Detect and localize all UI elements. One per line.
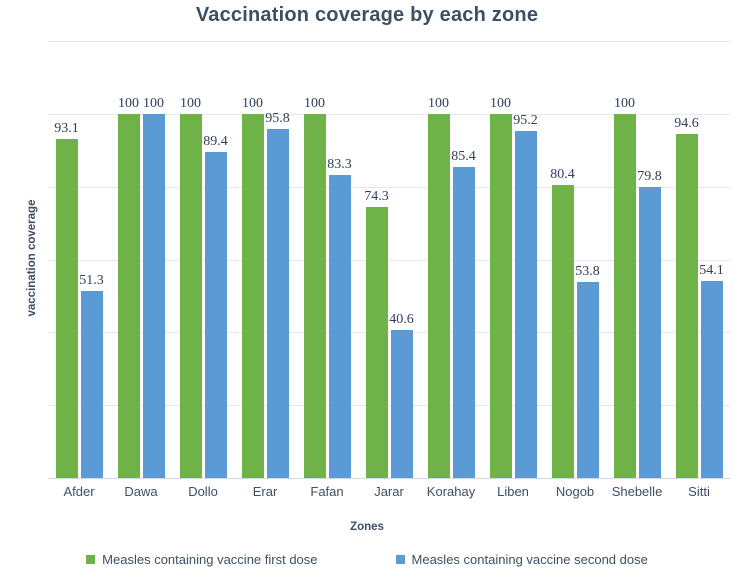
- bar-value-label: 80.4: [550, 167, 575, 183]
- bar-group: 10095.2: [490, 41, 537, 478]
- x-tick-label: Afder: [63, 484, 94, 499]
- bar[interactable]: 85.4: [453, 167, 475, 478]
- bar-value-label: 89.4: [203, 134, 228, 150]
- bar-group: 74.340.6: [366, 41, 413, 478]
- bar[interactable]: 100: [118, 114, 140, 478]
- bar[interactable]: 94.6: [676, 134, 698, 479]
- bar-group: 10079.8: [614, 41, 661, 478]
- bar-group: 80.453.8: [552, 41, 599, 478]
- bar[interactable]: 89.4: [205, 152, 227, 478]
- x-tick-label: Dawa: [124, 484, 157, 499]
- bar-value-label: 94.6: [674, 116, 699, 132]
- bar[interactable]: 100: [490, 114, 512, 478]
- x-tick-label: Fafan: [310, 484, 343, 499]
- bar-value-label: 95.2: [513, 113, 538, 129]
- bar-value-label: 74.3: [364, 189, 389, 205]
- bar-value-label: 95.8: [265, 111, 290, 127]
- bar[interactable]: 100: [143, 114, 165, 478]
- bar-group: 10089.4: [180, 41, 227, 478]
- bar[interactable]: 95.2: [515, 131, 537, 478]
- chart-legend: Measles containing vaccine first doseMea…: [0, 552, 734, 567]
- bar-group: 93.151.3: [56, 41, 103, 478]
- bar-group: 10085.4: [428, 41, 475, 478]
- legend-item[interactable]: Measles containing vaccine first dose: [86, 552, 317, 567]
- bar[interactable]: 53.8: [577, 282, 599, 478]
- y-axis-title: vaccination coverage: [26, 158, 38, 358]
- x-tick-label: Liben: [497, 484, 529, 499]
- bar[interactable]: 100: [180, 114, 202, 478]
- bar[interactable]: 40.6: [391, 330, 413, 478]
- bar-group: 94.654.1: [676, 41, 723, 478]
- bar[interactable]: 100: [428, 114, 450, 478]
- x-tick-label: Nogob: [556, 484, 594, 499]
- bar[interactable]: 54.1: [701, 281, 723, 478]
- bar[interactable]: 100: [242, 114, 264, 478]
- bar[interactable]: 79.8: [639, 187, 661, 478]
- bar[interactable]: 80.4: [552, 185, 574, 478]
- x-tick-label: Korahay: [427, 484, 475, 499]
- bar-value-label: 100: [180, 96, 201, 112]
- x-tick-label: Dollo: [188, 484, 218, 499]
- bar-value-label: 40.6: [389, 312, 414, 328]
- bar-value-label: 83.3: [327, 157, 352, 173]
- bar-value-label: 100: [143, 96, 164, 112]
- bar[interactable]: 74.3: [366, 207, 388, 478]
- bar[interactable]: 83.3: [329, 175, 351, 478]
- bar-value-label: 100: [118, 96, 139, 112]
- x-tick-label: Jarar: [374, 484, 404, 499]
- x-tick-label: Sitti: [688, 484, 710, 499]
- bar[interactable]: 95.8: [267, 129, 289, 478]
- bar[interactable]: 93.1: [56, 139, 78, 478]
- bar-group: 10083.3: [304, 41, 351, 478]
- bar-value-label: 100: [304, 96, 325, 112]
- x-axis-title: Zones: [0, 521, 734, 533]
- bar[interactable]: 100: [614, 114, 636, 478]
- legend-label: Measles containing vaccine first dose: [102, 552, 317, 567]
- bar-value-label: 100: [428, 96, 449, 112]
- bar-value-label: 54.1: [699, 263, 724, 279]
- plot-area: 02040608010012093.151.310010010089.41009…: [48, 41, 730, 478]
- bar-value-label: 53.8: [575, 264, 600, 280]
- bar-group: 100100: [118, 41, 165, 478]
- bar-value-label: 100: [490, 96, 511, 112]
- bar-value-label: 79.8: [637, 169, 662, 185]
- bar[interactable]: 51.3: [81, 291, 103, 478]
- bar-value-label: 100: [242, 96, 263, 112]
- bar-group: 10095.8: [242, 41, 289, 478]
- legend-item[interactable]: Measles containing vaccine second dose: [396, 552, 648, 567]
- vaccination-coverage-chart: Vaccination coverage by each zone vaccin…: [0, 0, 734, 572]
- chart-title: Vaccination coverage by each zone: [0, 4, 734, 27]
- x-tick-label: Shebelle: [612, 484, 663, 499]
- legend-swatch-first-dose: [86, 555, 95, 564]
- bar-value-label: 100: [614, 96, 635, 112]
- bar-value-label: 93.1: [54, 121, 79, 137]
- legend-swatch-second-dose: [396, 555, 405, 564]
- legend-label: Measles containing vaccine second dose: [412, 552, 648, 567]
- gridline: [48, 478, 730, 479]
- bar-value-label: 51.3: [79, 273, 104, 289]
- x-tick-label: Erar: [253, 484, 278, 499]
- bar-value-label: 85.4: [451, 149, 476, 165]
- bar[interactable]: 100: [304, 114, 326, 478]
